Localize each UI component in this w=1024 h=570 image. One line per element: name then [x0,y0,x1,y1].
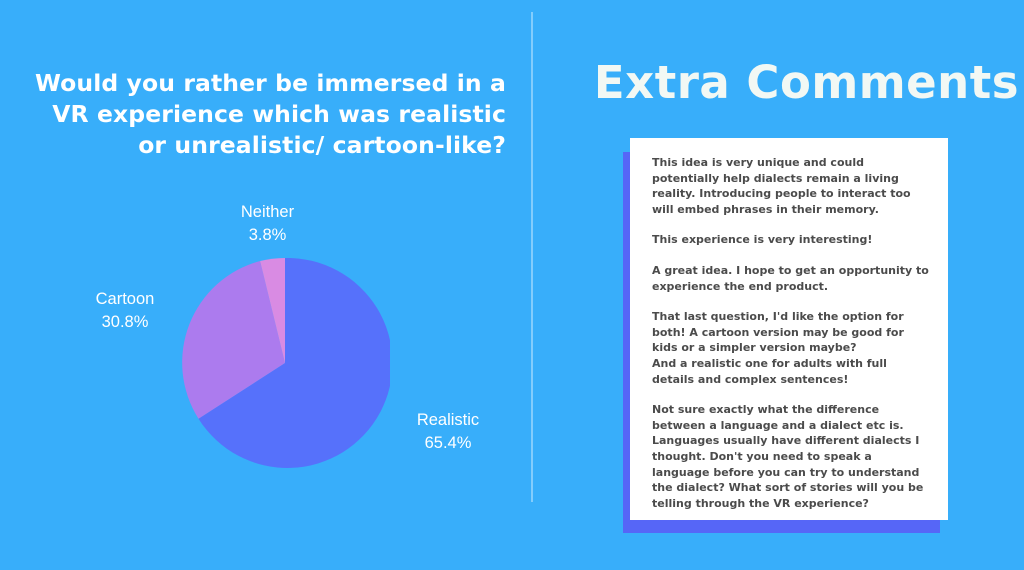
comment-item: This experience is very interesting! [652,232,932,248]
pie-label-cartoon: Cartoon 30.8% [55,288,195,334]
comment-item: A great idea. I hope to get an opportuni… [652,263,932,294]
left-panel-chart: Would you rather be immersed in a VR exp… [0,0,531,570]
comment-item: Not sure exactly what the difference bet… [652,402,932,511]
slide-canvas: Would you rather be immersed in a VR exp… [0,0,1024,570]
pie-label-neither-name: Neither [190,201,345,224]
comments-list: This idea is very unique and could poten… [652,155,932,511]
pie-label-realistic: Realistic 65.4% [378,409,518,455]
chart-title: Would you rather be immersed in a VR exp… [28,68,506,161]
comment-item: This idea is very unique and could poten… [652,155,932,217]
comment-item: That last question, I'd like the option … [652,309,932,387]
pie-label-realistic-name: Realistic [378,409,518,432]
comments-heading: Extra Comments [557,56,1019,110]
pie-label-neither-value: 3.8% [190,224,345,247]
pie-label-neither: Neither 3.8% [190,201,345,247]
right-panel-comments: Extra Comments This idea is very unique … [531,0,1024,570]
pie-chart [180,258,390,468]
pie-label-cartoon-name: Cartoon [55,288,195,311]
pie-label-cartoon-value: 30.8% [55,311,195,334]
pie-label-realistic-value: 65.4% [378,432,518,455]
pie-chart-svg [180,258,390,468]
